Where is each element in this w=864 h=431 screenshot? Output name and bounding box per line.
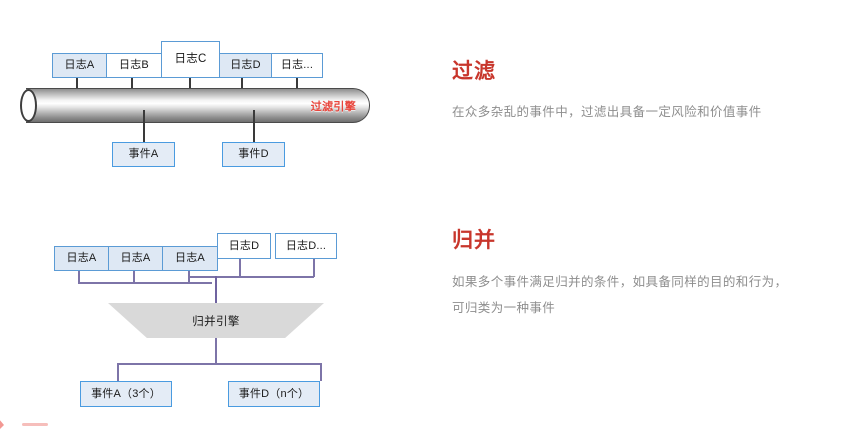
merge-trunk-line bbox=[215, 276, 217, 304]
merge-event-label-2: 事件D（n个） bbox=[239, 389, 309, 400]
merge-output-trunk bbox=[215, 338, 217, 364]
section-body-merge: 如果多个事件满足归并的条件，如具备同样的目的和行为，可归类为一种事件 bbox=[452, 270, 792, 321]
merge-log-box-1[interactable]: 日志A bbox=[54, 246, 109, 271]
merge-event-label-1: 事件A（3个） bbox=[91, 389, 161, 400]
merge-event-box-1[interactable]: 事件A（3个） bbox=[80, 381, 172, 407]
merge-log-box-3[interactable]: 日志A bbox=[162, 246, 218, 271]
merge-output-branch-1 bbox=[117, 363, 119, 381]
merge-output-branch-2 bbox=[320, 363, 322, 381]
section-body-filter: 在众多杂乱的事件中，过滤出具备一定风险和价值事件 bbox=[452, 100, 792, 126]
merge-output-bus bbox=[117, 363, 321, 365]
merge-event-box-2[interactable]: 事件D（n个） bbox=[228, 381, 320, 407]
section-heading-merge: 归并 bbox=[452, 230, 496, 251]
merge-log-label-2: 日志A bbox=[121, 253, 151, 264]
merge-diagram: 日志A 日志A 日志A 日志D 日志D... 归并引擎 bbox=[0, 0, 430, 427]
merge-log-label-4: 日志D bbox=[229, 241, 260, 252]
merge-engine-shape: 归并引擎 bbox=[108, 303, 324, 338]
merge-connector-bus-upper bbox=[188, 276, 314, 278]
section-heading-filter: 过滤 bbox=[452, 61, 496, 82]
merge-log-box-5[interactable]: 日志D... bbox=[275, 233, 337, 259]
merge-connector-4 bbox=[239, 259, 241, 277]
merge-connector-2 bbox=[133, 271, 135, 283]
merge-log-label-1: 日志A bbox=[67, 253, 97, 264]
text-column: 过滤 在众多杂乱的事件中，过滤出具备一定风险和价值事件 归并 如果多个事件满足归… bbox=[452, 0, 832, 427]
decorative-quote-mark bbox=[0, 405, 64, 431]
merge-connector-bus-lower bbox=[78, 282, 212, 284]
merge-connector-5 bbox=[313, 259, 315, 277]
diagram-area: 日志A 日志B 日志C 日志D 日志... 过滤引擎 bbox=[0, 0, 430, 427]
merge-log-label-3: 日志A bbox=[175, 253, 205, 264]
merge-engine-label: 归并引擎 bbox=[108, 303, 324, 338]
merge-log-box-4[interactable]: 日志D bbox=[217, 233, 271, 259]
merge-log-box-2[interactable]: 日志A bbox=[108, 246, 163, 271]
merge-log-label-5: 日志D... bbox=[286, 241, 326, 252]
